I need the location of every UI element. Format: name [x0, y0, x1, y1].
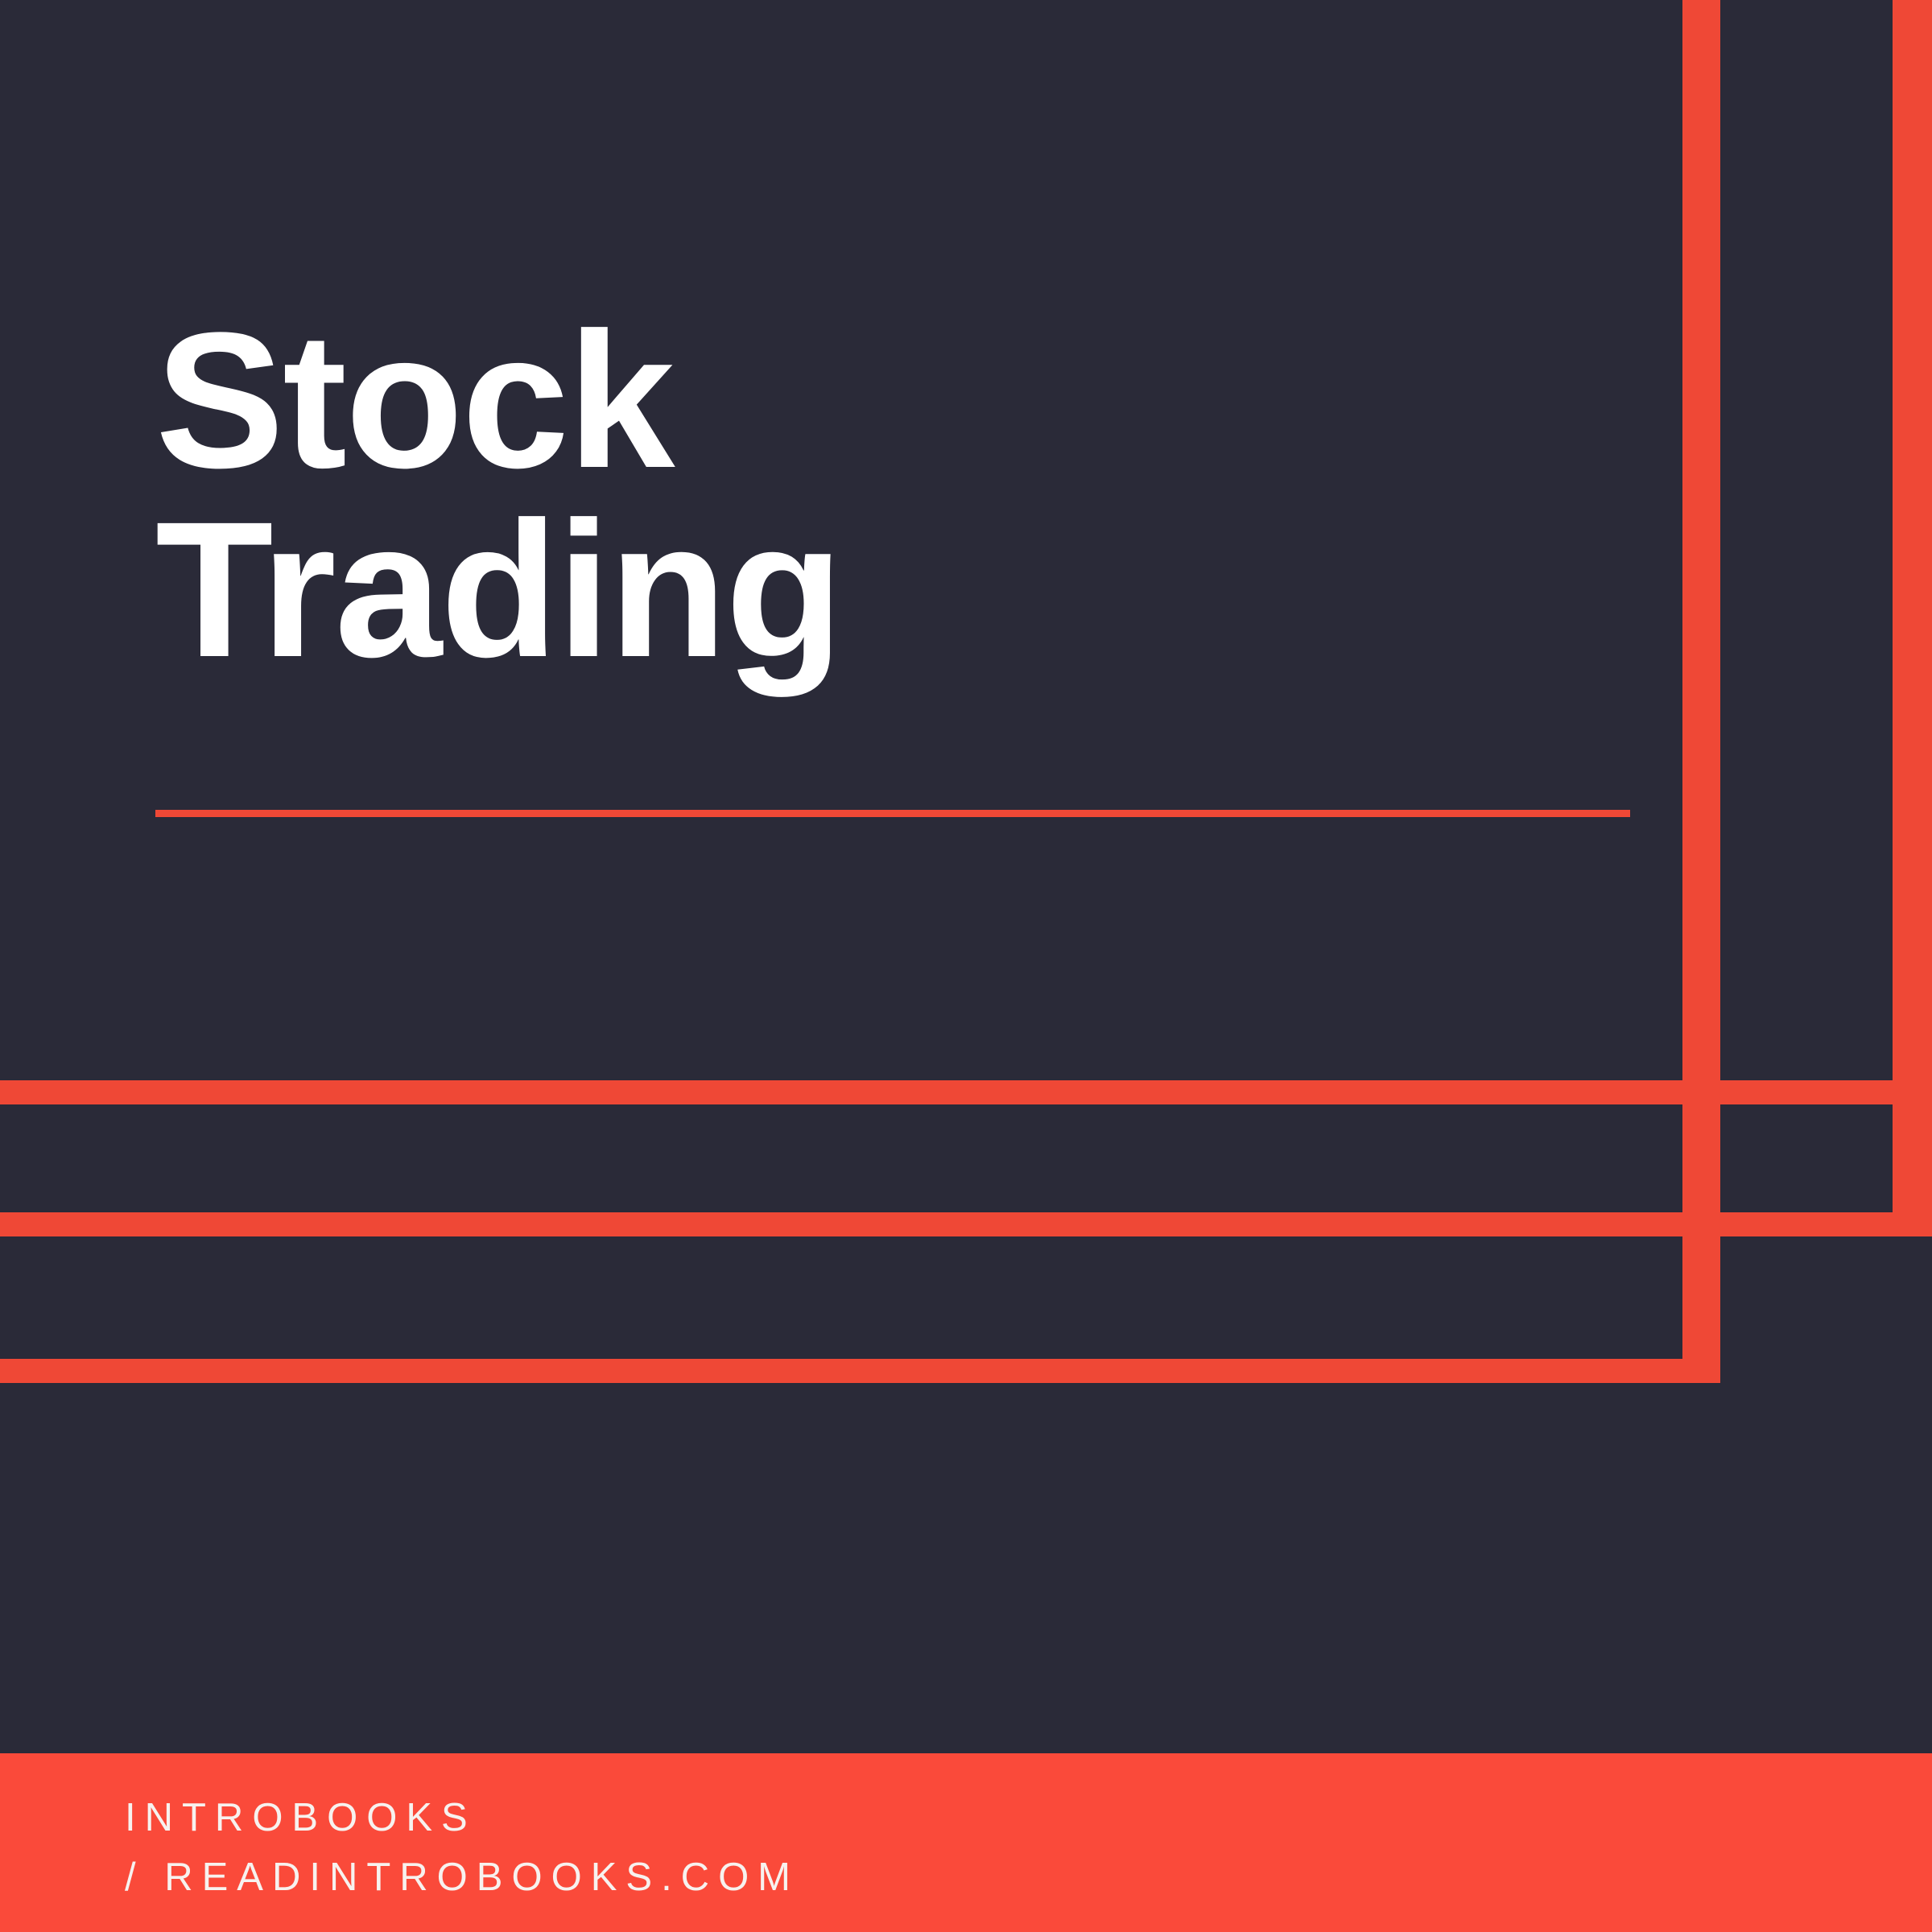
- footer-publisher: INTROBOOKS: [125, 1795, 477, 1840]
- horizontal-red-rule-bottom-icon: [0, 1359, 1720, 1383]
- vertical-red-rule-inner-icon: [1682, 0, 1720, 1383]
- footer-band: INTROBOOKS / READINTROBOOKS.COM: [0, 1753, 1932, 1932]
- page-title: Stock Trading: [155, 306, 1637, 684]
- vertical-red-rule-outer-icon: [1893, 0, 1932, 1236]
- footer-website[interactable]: / READINTROBOOKS.COM: [125, 1855, 799, 1900]
- horizontal-red-rule-top-icon: [0, 1080, 1932, 1104]
- title-line-1: Stock: [155, 306, 1637, 495]
- title-underline-rule-icon: [155, 810, 1630, 817]
- horizontal-red-rule-middle-icon: [0, 1212, 1932, 1236]
- book-cover: Stock Trading INTROBOOKS / READINTROBOOK…: [0, 0, 1932, 1932]
- title-line-2: Trading: [155, 495, 1637, 684]
